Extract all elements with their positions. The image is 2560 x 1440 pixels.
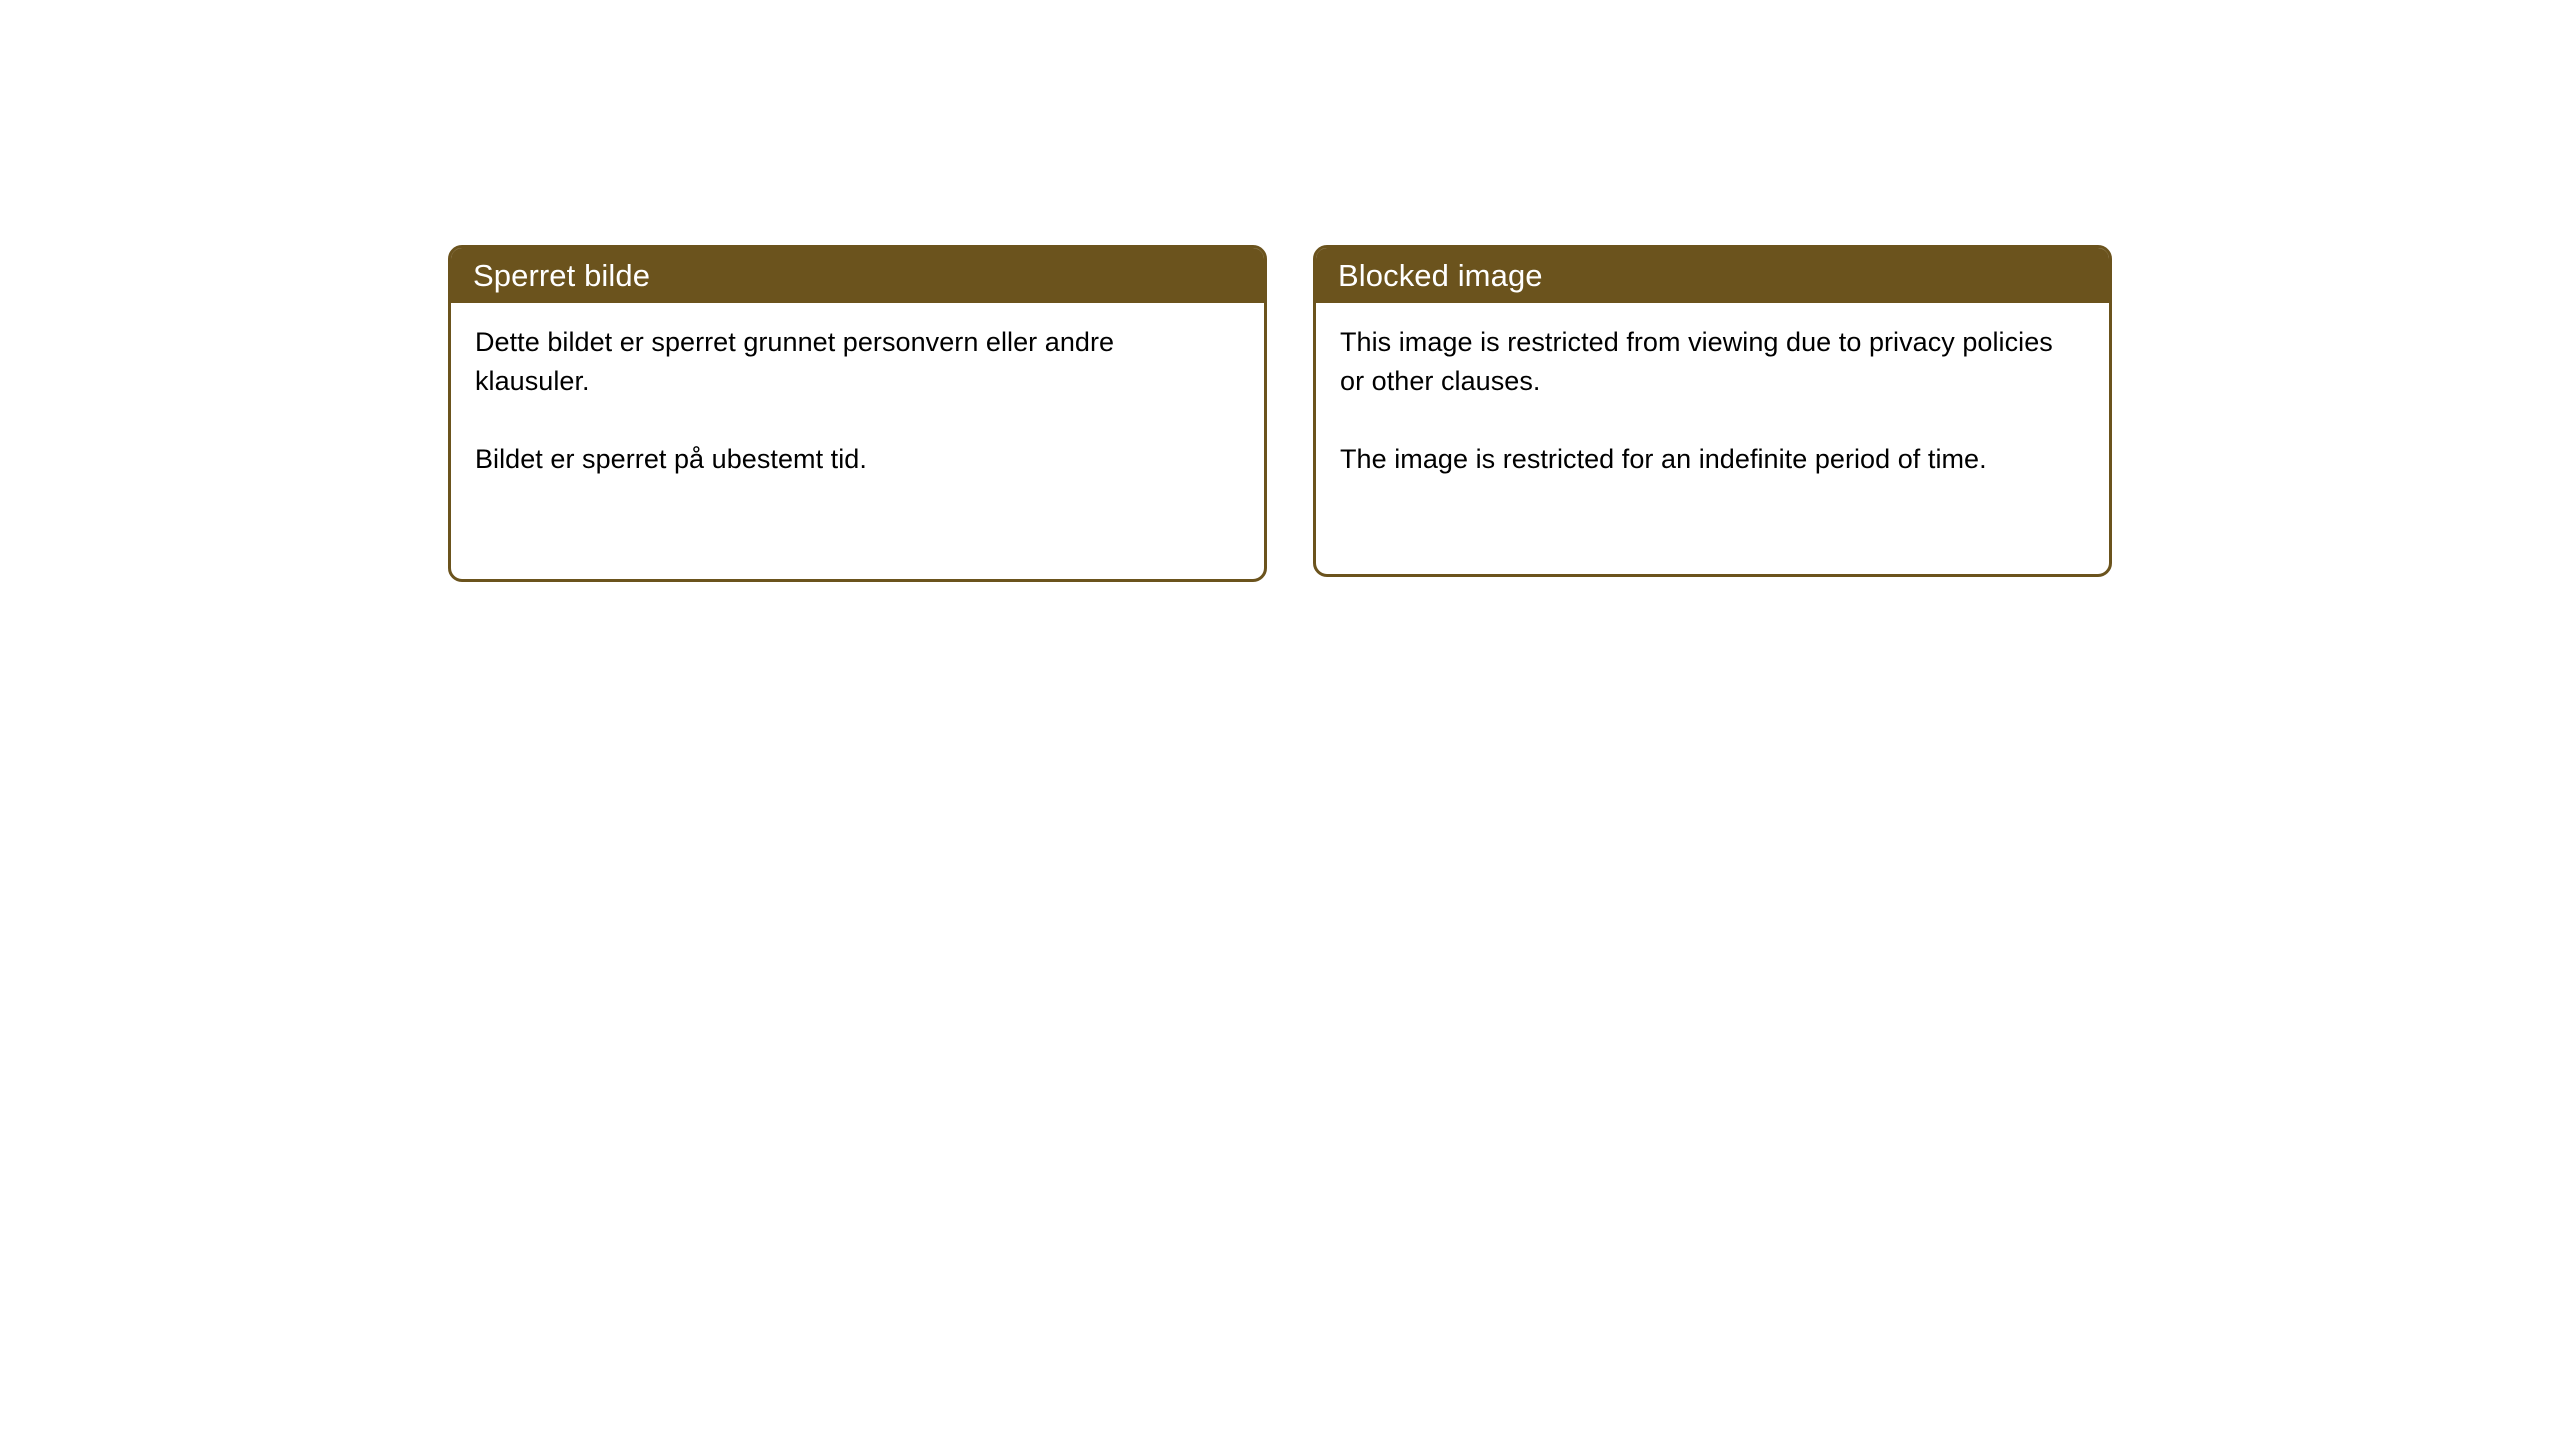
page-root: Sperret bilde Dette bildet er sperret gr… xyxy=(0,0,2560,1440)
panel-paragraph-reason-no: Dette bildet er sperret grunnet personve… xyxy=(475,323,1234,401)
panel-body-no: Dette bildet er sperret grunnet personve… xyxy=(451,303,1264,479)
panel-paragraph-reason-en: This image is restricted from viewing du… xyxy=(1340,323,2083,401)
panel-title-en: Blocked image xyxy=(1316,248,2109,303)
panel-paragraph-duration-no: Bildet er sperret på ubestemt tid. xyxy=(475,440,1234,479)
blocked-image-notice-no: Sperret bilde Dette bildet er sperret gr… xyxy=(448,245,1267,582)
blocked-image-notice-en: Blocked image This image is restricted f… xyxy=(1313,245,2112,577)
panel-paragraph-duration-en: The image is restricted for an indefinit… xyxy=(1340,440,2083,479)
panel-title-no: Sperret bilde xyxy=(451,248,1264,303)
panel-body-en: This image is restricted from viewing du… xyxy=(1316,303,2109,479)
